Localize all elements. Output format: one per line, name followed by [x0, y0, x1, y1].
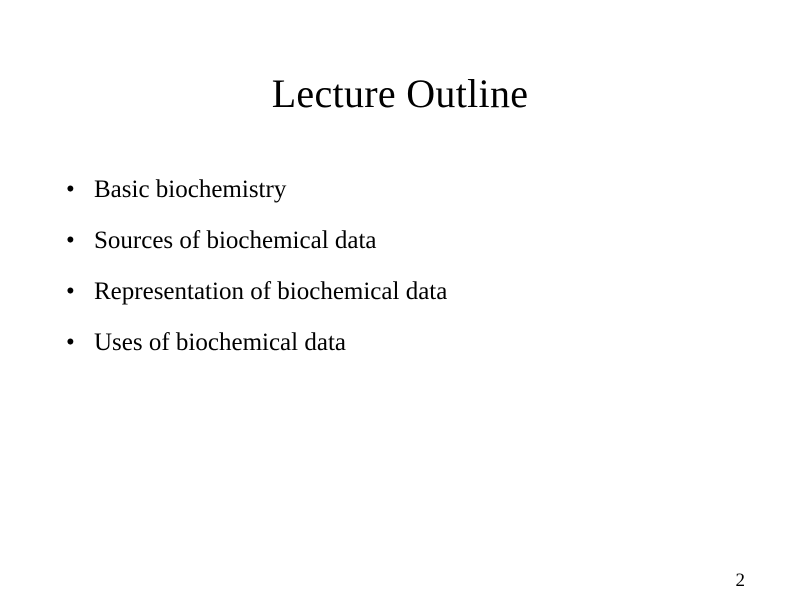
bullet-point-icon: •	[66, 164, 80, 215]
bullet-point-icon: •	[66, 317, 80, 368]
bullet-item-label: Representation of biochemical data	[94, 278, 447, 305]
bullet-item-label: Uses of biochemical data	[94, 329, 346, 356]
bullet-point-icon: •	[66, 266, 80, 317]
bullet-item-label: Basic biochemistry	[94, 176, 286, 203]
outline-bullet-list: • Basic biochemistry • Sources of bioche…	[62, 164, 752, 368]
page-number: 2	[736, 570, 746, 592]
bullet-item-basic-biochemistry: • Basic biochemistry	[62, 164, 752, 215]
bullet-item-uses: • Uses of biochemical data	[62, 317, 752, 368]
slide-title: Lecture Outline	[0, 70, 800, 118]
presentation-slide: Lecture Outline • Basic biochemistry • S…	[0, 0, 800, 600]
bullet-item-label: Sources of biochemical data	[94, 227, 377, 254]
bullet-point-icon: •	[66, 215, 80, 266]
bullet-item-representation: • Representation of biochemical data	[62, 266, 752, 317]
bullet-item-sources: • Sources of biochemical data	[62, 215, 752, 266]
